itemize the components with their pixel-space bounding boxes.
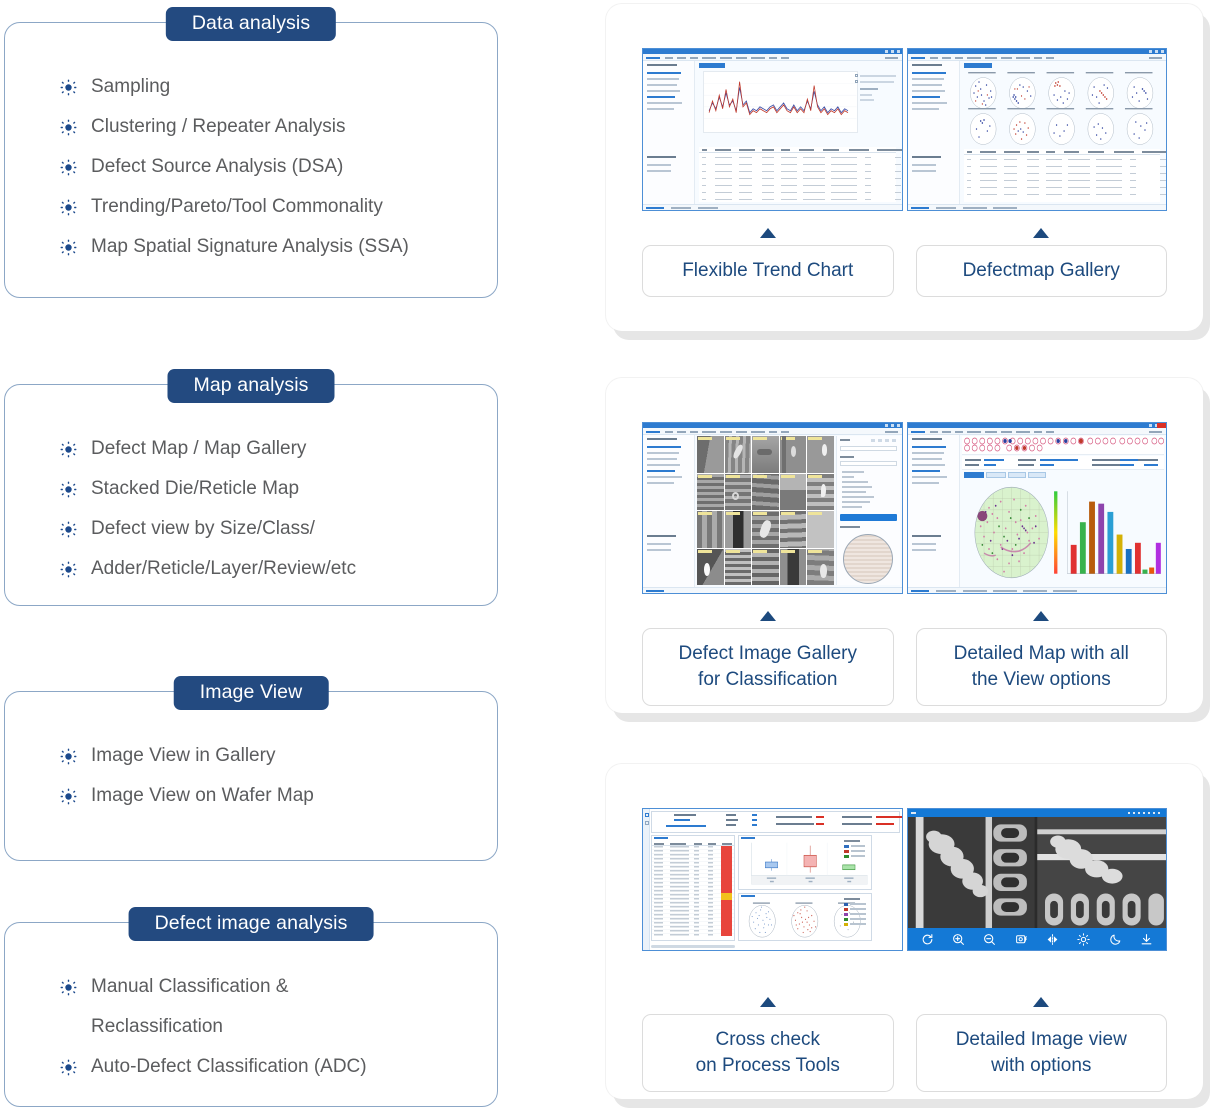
cross-check-process-tools-screenshot[interactable] xyxy=(642,808,903,951)
brightness-icon[interactable] xyxy=(1077,933,1090,946)
minimize-icon xyxy=(885,424,888,427)
radial-target-icon xyxy=(60,199,77,216)
radial-target-icon xyxy=(60,441,77,458)
caption-detailed-image-view[interactable]: Detailed Image view with options xyxy=(916,1014,1168,1092)
app-sidebar xyxy=(643,435,695,587)
maximize-icon xyxy=(891,424,894,427)
summary-header xyxy=(651,811,900,833)
screenshot-card-map-analysis: Defect Image Gallery for Classification … xyxy=(606,378,1203,713)
list-item-label: Defect Map / Map Gallery xyxy=(91,436,306,462)
caption-row: Flexible Trend Chart Defectmap Gallery xyxy=(642,228,1167,297)
defect-image-tile[interactable] xyxy=(697,474,724,511)
list-item-label: Stacked Die/Reticle Map xyxy=(91,476,299,502)
detailed-image-view-screenshot[interactable] xyxy=(907,808,1168,951)
rotate-icon[interactable] xyxy=(921,933,934,946)
defect-image-tile[interactable] xyxy=(697,436,724,473)
caret-up-icon xyxy=(1033,997,1049,1007)
caret-up-icon xyxy=(760,997,776,1007)
viewer-header-controls[interactable] xyxy=(1128,812,1162,814)
defect-image-tile[interactable] xyxy=(780,549,807,586)
table-row[interactable] xyxy=(964,192,1161,197)
minimize-icon xyxy=(1149,50,1152,53)
close-icon xyxy=(897,424,900,427)
caption-row: Defect Image Gallery for Classification … xyxy=(642,611,1167,706)
caption-group: Flexible Trend Chart xyxy=(642,228,894,297)
radial-target-icon xyxy=(60,159,77,176)
viewer-titlebar xyxy=(908,809,1167,817)
detailed-map-screenshot[interactable] xyxy=(907,422,1168,594)
map-info-strip xyxy=(962,456,1165,470)
status-heat-column xyxy=(721,846,732,936)
wafer-comparison-panel xyxy=(738,893,872,941)
list-item: Image View on Wafer Map xyxy=(5,776,497,816)
defect-image-tile[interactable] xyxy=(780,474,807,511)
download-icon[interactable] xyxy=(1140,933,1153,946)
card-title-map-analysis: Map analysis xyxy=(167,369,334,403)
image-viewer xyxy=(908,809,1167,950)
feature-card-data-analysis: Data analysis Sampling Clustering / Repe… xyxy=(4,22,498,298)
feature-list-column: Data analysis Sampling Clustering / Repe… xyxy=(0,0,502,1117)
radial-target-icon xyxy=(60,561,77,578)
defect-image-tile[interactable] xyxy=(807,436,834,473)
defect-image-tile[interactable] xyxy=(752,549,779,586)
boxplot-panel xyxy=(738,835,872,890)
list-item-label: Image View in Gallery xyxy=(91,743,275,769)
list-item-label: Image View on Wafer Map xyxy=(91,783,314,809)
defect-image-tile[interactable] xyxy=(725,436,752,473)
wafer-thumbnail[interactable] xyxy=(843,534,893,584)
defect-image-gallery-screenshot[interactable] xyxy=(642,422,903,594)
app-statusbar xyxy=(908,204,1167,210)
card-body-data-analysis: Sampling Clustering / Repeater Analysis … xyxy=(5,23,497,293)
tab-zone-map[interactable] xyxy=(1008,472,1026,478)
list-item: Stacked Die/Reticle Map xyxy=(5,469,497,509)
card-body-image-view: Image View in Gallery Image View on Wafe… xyxy=(5,692,497,842)
app-statusbar xyxy=(643,204,902,210)
map-view-toolbar[interactable] xyxy=(962,436,1165,455)
radial-target-icon xyxy=(60,481,77,498)
card-title-defect-image-analysis: Defect image analysis xyxy=(129,907,374,941)
table-row[interactable] xyxy=(699,197,896,202)
screenshot-pair xyxy=(642,422,1167,594)
results-table[interactable] xyxy=(699,147,896,202)
app-window xyxy=(908,49,1167,210)
tab-stack-map[interactable] xyxy=(1028,472,1046,478)
table-row[interactable] xyxy=(964,164,1161,169)
defect-image-grid[interactable] xyxy=(697,436,834,585)
wafer-map-gallery[interactable] xyxy=(964,71,1163,145)
app-sidebar xyxy=(908,435,960,587)
feature-card-defect-image-analysis: Defect image analysis Manual Classificat… xyxy=(4,922,498,1107)
list-item-label: Trending/Pareto/Tool Commonality xyxy=(91,194,383,220)
list-item: Clustering / Repeater Analysis xyxy=(5,107,497,147)
table-row[interactable] xyxy=(699,169,896,174)
card-title-image-view: Image View xyxy=(174,676,329,710)
process-tool-table[interactable] xyxy=(651,835,735,941)
defect-image-tile[interactable] xyxy=(697,549,724,586)
panel-tabs[interactable] xyxy=(964,63,1004,68)
caption-group: Defectmap Gallery xyxy=(916,228,1168,297)
zoom-in-icon[interactable] xyxy=(952,933,965,946)
list-item: Sampling xyxy=(5,67,497,107)
caption-group: Cross check on Process Tools xyxy=(642,997,894,1092)
app-sidebar xyxy=(643,61,695,204)
table-row[interactable] xyxy=(699,162,896,167)
horizontal-scrollbar[interactable] xyxy=(651,945,735,948)
caption-row: Cross check on Process Tools Detailed Im… xyxy=(642,997,1167,1092)
list-item-label: Auto-Defect Classification (ADC) xyxy=(91,1054,367,1080)
viewer-title-label xyxy=(911,812,916,814)
defect-image-tile[interactable] xyxy=(752,511,779,548)
defect-image-tile[interactable] xyxy=(697,511,724,548)
list-item: Defect view by Size/Class/ xyxy=(5,509,497,549)
apply-button[interactable] xyxy=(840,514,897,521)
caption-group: Detailed Map with all the View options xyxy=(916,611,1168,706)
defect-image-tile[interactable] xyxy=(725,511,752,548)
contrast-moon-icon[interactable] xyxy=(1109,933,1122,946)
app-window xyxy=(643,809,902,950)
minimize-icon xyxy=(1149,424,1152,427)
table-row[interactable] xyxy=(964,171,1161,176)
search-input[interactable] xyxy=(840,446,897,451)
sem-image-canvas[interactable] xyxy=(908,817,1167,928)
defect-image-tile[interactable] xyxy=(752,474,779,511)
table-row[interactable] xyxy=(699,155,896,160)
defect-image-tile[interactable] xyxy=(807,549,834,586)
app-menubar xyxy=(643,428,902,435)
caret-up-icon xyxy=(760,228,776,238)
defect-image-tile[interactable] xyxy=(807,474,834,511)
rotate-image-icon[interactable] xyxy=(1015,933,1028,946)
caption-defectmap-gallery[interactable]: Defectmap Gallery xyxy=(916,245,1168,297)
flip-horizontal-icon[interactable] xyxy=(1046,933,1059,946)
table-row[interactable] xyxy=(699,190,896,195)
table-row[interactable] xyxy=(964,185,1161,190)
app-menubar xyxy=(643,54,902,61)
maximize-icon xyxy=(1155,50,1158,53)
list-item: Auto-Defect Classification (ADC) xyxy=(5,1047,497,1087)
list-item-label: Reclassification xyxy=(91,1014,223,1040)
caption-cross-check[interactable]: Cross check on Process Tools xyxy=(642,1014,894,1092)
card-body-defect-image-analysis: Manual Classification & Reclassification… xyxy=(5,923,497,1113)
caret-up-icon xyxy=(760,611,776,621)
screenshot-pair xyxy=(642,808,1167,951)
screenshot-card-defect-image-analysis: Cross check on Process Tools Detailed Im… xyxy=(606,764,1203,1099)
radial-target-icon xyxy=(60,119,77,136)
screenshot-pair xyxy=(642,48,1167,211)
app-statusbar xyxy=(908,587,1167,593)
radial-target-icon xyxy=(60,748,77,765)
defectmap-gallery-screenshot[interactable] xyxy=(907,48,1168,211)
defect-image-tile[interactable] xyxy=(780,436,807,473)
caret-up-icon xyxy=(1033,611,1049,621)
list-item: Defect Source Analysis (DSA) xyxy=(5,147,497,187)
radial-target-icon xyxy=(60,1059,77,1076)
app-window xyxy=(643,423,902,593)
image-viewer-toolbar[interactable] xyxy=(908,928,1167,950)
table-header-row xyxy=(699,147,896,153)
map-and-chart-area xyxy=(964,481,1163,584)
card-body-map-analysis: Defect Map / Map Gallery Stacked Die/Ret… xyxy=(5,385,497,615)
minimize-icon xyxy=(885,50,888,53)
radial-target-icon xyxy=(60,521,77,538)
chart-legend xyxy=(860,73,898,105)
list-item: Adder/Reticle/Layer/Review/etc xyxy=(5,549,497,589)
class-select[interactable] xyxy=(840,461,897,466)
map-tabs[interactable] xyxy=(964,472,1054,478)
list-item: Manual Classification & xyxy=(5,967,497,1007)
defect-image-tile[interactable] xyxy=(807,511,834,548)
screenshot-card-data-analysis: Flexible Trend Chart Defectmap Gallery xyxy=(606,4,1203,331)
tab-defect-gallery[interactable] xyxy=(964,63,992,68)
caret-up-icon xyxy=(1033,228,1049,238)
screenshot-cards-column: Flexible Trend Chart Defectmap Gallery xyxy=(600,0,1219,1117)
defect-image-tile[interactable] xyxy=(725,549,752,586)
close-icon xyxy=(897,50,900,53)
classification-panel[interactable] xyxy=(836,436,900,585)
radial-target-icon xyxy=(60,79,77,96)
list-item-label: Defect view by Size/Class/ xyxy=(91,516,315,542)
app-window xyxy=(908,423,1167,593)
app-window xyxy=(643,49,902,210)
tab-defect-map[interactable] xyxy=(964,472,984,478)
list-item-label: Manual Classification & xyxy=(91,974,288,1000)
list-item-label: Defect Source Analysis (DSA) xyxy=(91,154,343,180)
app-sidebar xyxy=(908,61,960,204)
caption-detailed-map[interactable]: Detailed Map with all the View options xyxy=(916,628,1168,706)
table-header-row xyxy=(964,149,1161,155)
table-row[interactable] xyxy=(964,178,1161,183)
radial-target-icon xyxy=(60,979,77,996)
results-table[interactable] xyxy=(964,149,1161,202)
list-item-label: Clustering / Repeater Analysis xyxy=(91,114,346,140)
feature-card-image-view: Image View Image View in Gallery Image V… xyxy=(4,691,498,861)
list-item: Map Spatial Signature Analysis (SSA) xyxy=(5,227,497,267)
maximize-icon xyxy=(891,50,894,53)
table-row[interactable] xyxy=(699,183,896,188)
list-item-label: Sampling xyxy=(91,74,170,100)
trend-chart-screenshot[interactable] xyxy=(642,48,903,211)
caption-group: Detailed Image view with options xyxy=(916,997,1168,1092)
caption-defect-image-gallery[interactable]: Defect Image Gallery for Classification xyxy=(642,628,894,706)
list-item-label: Adder/Reticle/Layer/Review/etc xyxy=(91,556,356,582)
table-row[interactable] xyxy=(699,176,896,181)
list-item-label: Map Spatial Signature Analysis (SSA) xyxy=(91,234,409,260)
radial-target-icon xyxy=(60,239,77,256)
list-item: Trending/Pareto/Tool Commonality xyxy=(5,187,497,227)
caption-flexible-trend-chart[interactable]: Flexible Trend Chart xyxy=(642,245,894,297)
panel-tabs[interactable] xyxy=(699,63,739,68)
app-statusbar xyxy=(643,587,902,593)
defect-image-tile[interactable] xyxy=(780,511,807,548)
defect-image-tile[interactable] xyxy=(725,474,752,511)
trend-plot-area xyxy=(703,71,858,133)
tab-content-trend[interactable] xyxy=(699,63,725,68)
app-menubar xyxy=(908,54,1167,61)
list-item-continuation: Reclassification xyxy=(5,1007,497,1047)
left-rail xyxy=(643,809,650,950)
table-row[interactable] xyxy=(964,157,1161,162)
list-item: Defect Map / Map Gallery xyxy=(5,429,497,469)
card-title-data-analysis: Data analysis xyxy=(166,7,336,41)
app-menubar xyxy=(908,428,1167,435)
zoom-out-icon[interactable] xyxy=(983,933,996,946)
list-item: Image View in Gallery xyxy=(5,736,497,776)
caption-group: Defect Image Gallery for Classification xyxy=(642,611,894,706)
tab-density-map[interactable] xyxy=(986,472,1006,478)
radial-target-icon xyxy=(60,788,77,805)
defect-image-tile[interactable] xyxy=(752,436,779,473)
feature-card-map-analysis: Map analysis Defect Map / Map Gallery St… xyxy=(4,384,498,606)
close-icon xyxy=(1161,50,1164,53)
